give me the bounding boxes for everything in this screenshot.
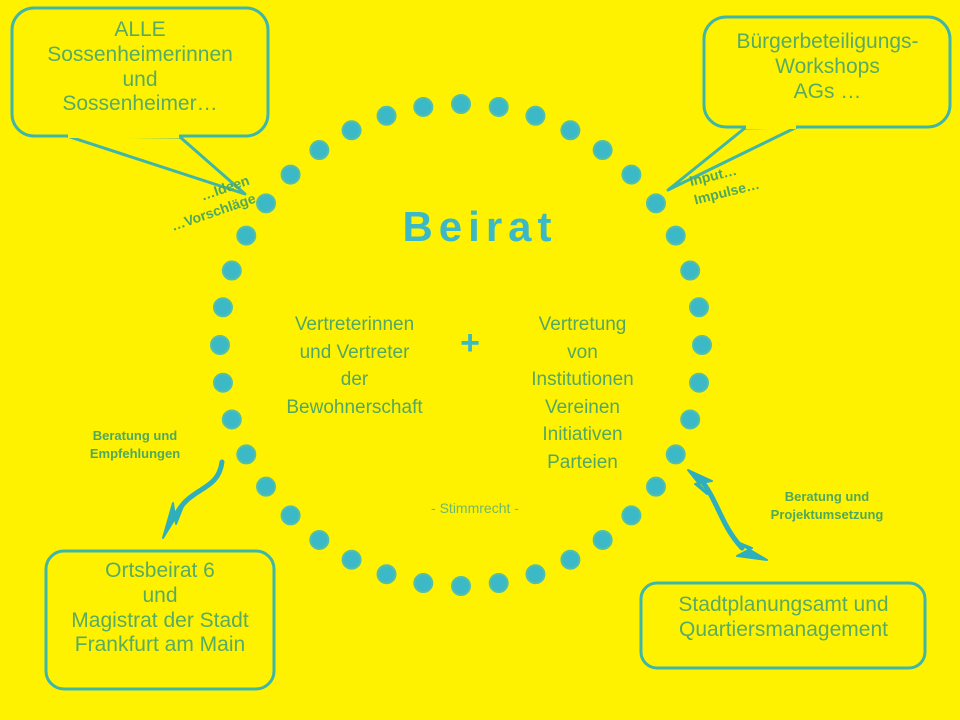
ring-dot [647,478,665,496]
ring-dot [667,445,685,463]
ring-dot [310,531,328,549]
ring-dot [452,577,470,595]
ring-dot [490,574,508,592]
bubble-top-left-text: ALLE Sossenheimerinnen und Sossenheimer… [20,18,260,117]
page-title-beirat: Beirat [0,203,960,251]
ring-dot [452,95,470,113]
ring-dot [622,506,640,524]
ring-dot [693,336,711,354]
ring-dot [282,166,300,184]
ring-dot [378,107,396,125]
arrow-label-beratung-empfehlungen: Beratung und Empfehlungen [60,427,210,462]
ring-dot [414,574,432,592]
ring-dot [257,478,275,496]
ring-dot [343,551,361,569]
ring-dot [343,121,361,139]
ring-dot [594,141,612,159]
ring-dot [561,121,579,139]
ring-dot [237,445,255,463]
plus-symbol: + [440,326,500,360]
ring-dot [561,551,579,569]
ring-dot [690,374,708,392]
ring-dot [681,410,699,428]
center-footnote-stimmrecht: - Stimmrecht - [380,500,570,517]
box-bottom-left-text: Ortsbeirat 6 und Magistrat der Stadt Fra… [48,559,272,658]
ring-dot [223,262,241,280]
arrow-label-beratung-projektumsetzung: Beratung und Projektumsetzung [742,488,912,523]
ring-dot [490,98,508,116]
ring-dot [223,410,241,428]
arrow-beratung-empfehlungen [163,462,222,538]
box-bottom-right-text: Stadtplanungsamt und Quartiersmanagement [646,593,921,643]
ring-dot [526,107,544,125]
ring-dot [681,262,699,280]
center-column-left: Vertreterinnen und Vertreter der Bewohne… [272,311,437,421]
arrow-br-curve [700,479,742,548]
ring-dot [526,565,544,583]
ring-dot [690,298,708,316]
bubble-top-right-text: Bürgerbeteiligungs- Workshops AGs … [710,30,945,104]
ring-dot [594,531,612,549]
ring-dot [282,506,300,524]
ring-dot [622,166,640,184]
ring-dot [378,565,396,583]
diagram-canvas: ALLE Sossenheimerinnen und Sossenheimer…… [0,0,960,720]
arrow-bl-head [163,503,184,538]
center-column-right: Vertretung von Institutionen Vereinen In… [500,311,665,476]
ring-dot [310,141,328,159]
ring-dot [211,336,229,354]
arrow-br-head-lower [735,541,767,560]
ring-dot [214,298,232,316]
ring-dot [414,98,432,116]
ring-dot [214,374,232,392]
